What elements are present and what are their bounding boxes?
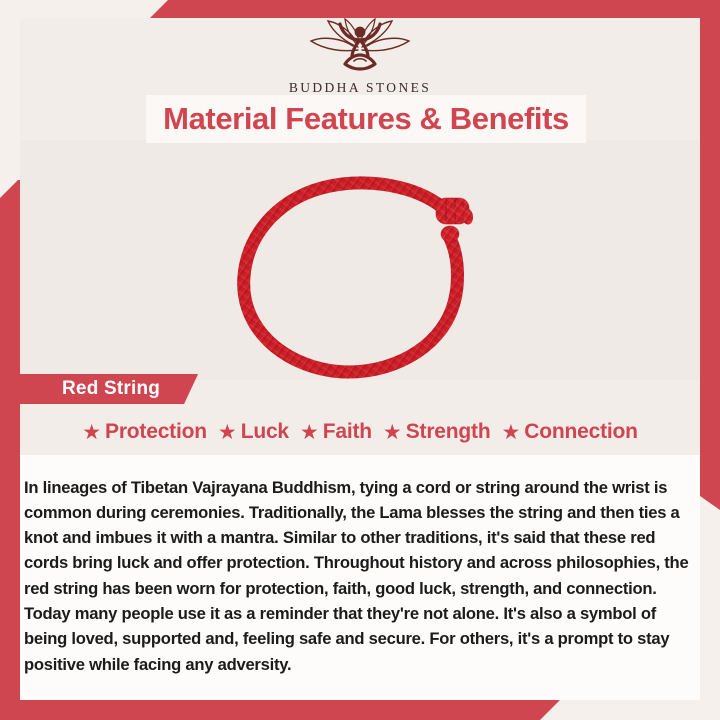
benefit-item-strength: ★ Strength [383, 420, 491, 444]
benefit-label: Faith [323, 420, 372, 444]
infographic-poster: BUDDHA STONES Material Features & Benefi… [0, 0, 720, 720]
star-icon: ★ [82, 422, 101, 443]
description-paragraph: In lineages of Tibetan Vajrayana Buddhis… [24, 475, 692, 677]
lotus-meditation-icon [297, 16, 423, 78]
star-icon: ★ [300, 422, 319, 443]
benefit-label: Luck [241, 420, 289, 444]
page-title: Material Features & Benefits [163, 101, 569, 137]
brand-logo: BUDDHA STONES [0, 16, 720, 96]
benefit-item-faith: ★ Faith [300, 420, 372, 444]
red-string-bracelet-illustration [210, 150, 520, 385]
title-plate: Material Features & Benefits [146, 95, 586, 143]
brand-name: BUDDHA STONES [289, 80, 431, 96]
star-icon: ★ [218, 422, 237, 443]
star-icon: ★ [501, 422, 520, 443]
ribbon-label: Red String [20, 374, 198, 404]
star-icon: ★ [383, 422, 402, 443]
bottom-accent-bar [0, 700, 560, 720]
left-accent-bar [0, 180, 20, 720]
benefit-label: Strength [406, 420, 491, 444]
benefit-item-connection: ★ Connection [501, 420, 637, 444]
benefit-item-luck: ★ Luck [218, 420, 289, 444]
benefit-label: Connection [524, 420, 638, 444]
benefit-label: Protection [105, 420, 207, 444]
benefit-item-protection: ★ Protection [82, 420, 207, 444]
benefits-list: ★ Protection ★ Luck ★ Faith ★ Strength ★… [20, 420, 700, 444]
ribbon-text: Red String [62, 378, 160, 400]
